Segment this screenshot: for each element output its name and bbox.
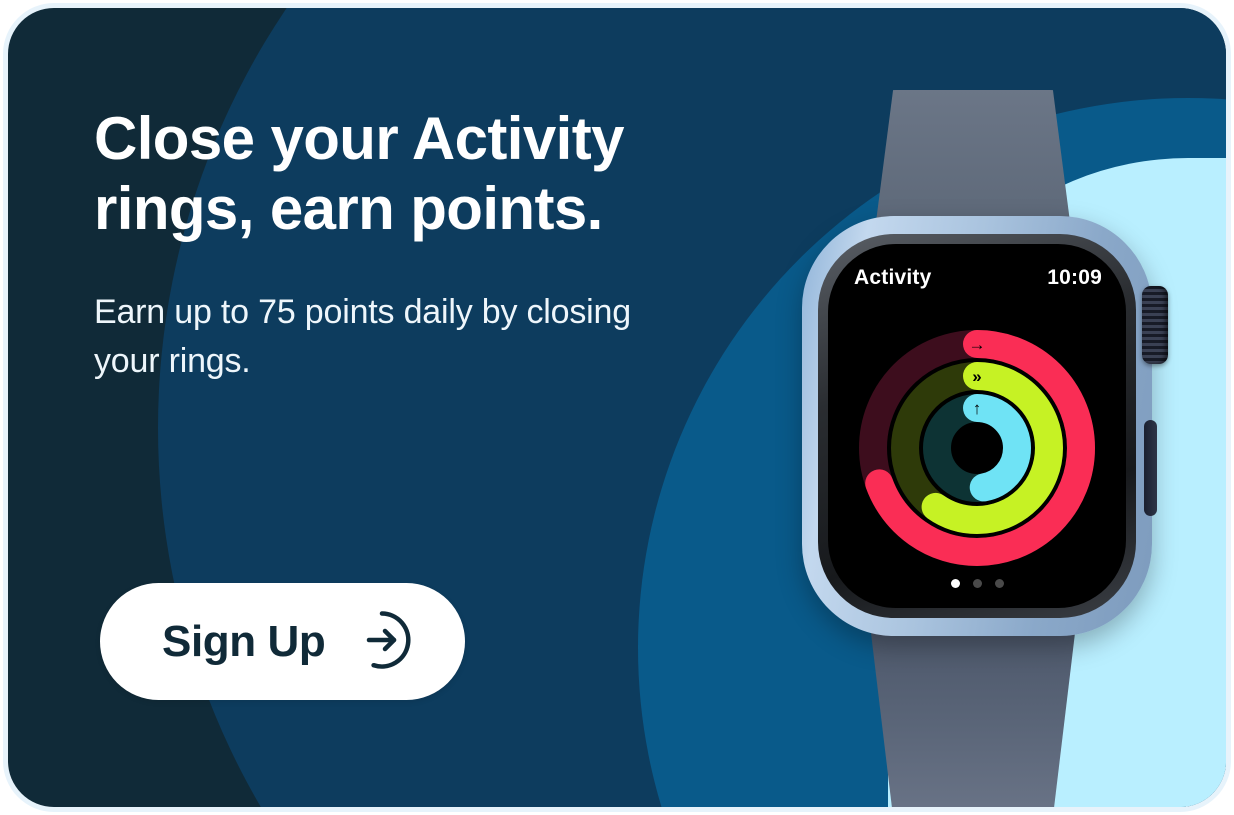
arrow-right-icon: → [969,335,986,354]
double-chevron-right-icon: » [972,367,981,386]
watch-band-bottom [868,608,1078,807]
watch-screen[interactable]: Activity 10:09 [828,244,1126,608]
watch-side-button[interactable] [1144,420,1157,516]
watch-app-title: Activity [854,266,931,290]
sign-up-button-label: Sign Up [162,620,325,664]
digital-crown[interactable] [1142,286,1168,364]
page-subtitle: Earn up to 75 points daily by closing yo… [94,288,694,385]
page-dot[interactable] [973,579,982,588]
sign-up-button[interactable]: Sign Up [100,583,465,700]
watch-case: Activity 10:09 [802,216,1152,636]
smartwatch: Activity 10:09 [770,68,1190,807]
copy-column: Close your Activity rings, earn points. … [94,104,754,385]
watch-page-indicator[interactable] [828,579,1126,588]
arrow-up-icon: ↑ [973,399,982,418]
circle-arrow-right-icon [351,609,413,674]
activity-rings[interactable]: → » ↑ [841,312,1113,584]
promo-card: Close your Activity rings, earn points. … [8,8,1226,807]
watch-clock: 10:09 [1047,266,1102,290]
page-dot[interactable] [951,579,960,588]
page-dot[interactable] [995,579,1004,588]
watch-bezel: Activity 10:09 [818,234,1136,618]
watch-status-bar: Activity 10:09 [854,266,1102,290]
page-title: Close your Activity rings, earn points. [94,104,754,244]
